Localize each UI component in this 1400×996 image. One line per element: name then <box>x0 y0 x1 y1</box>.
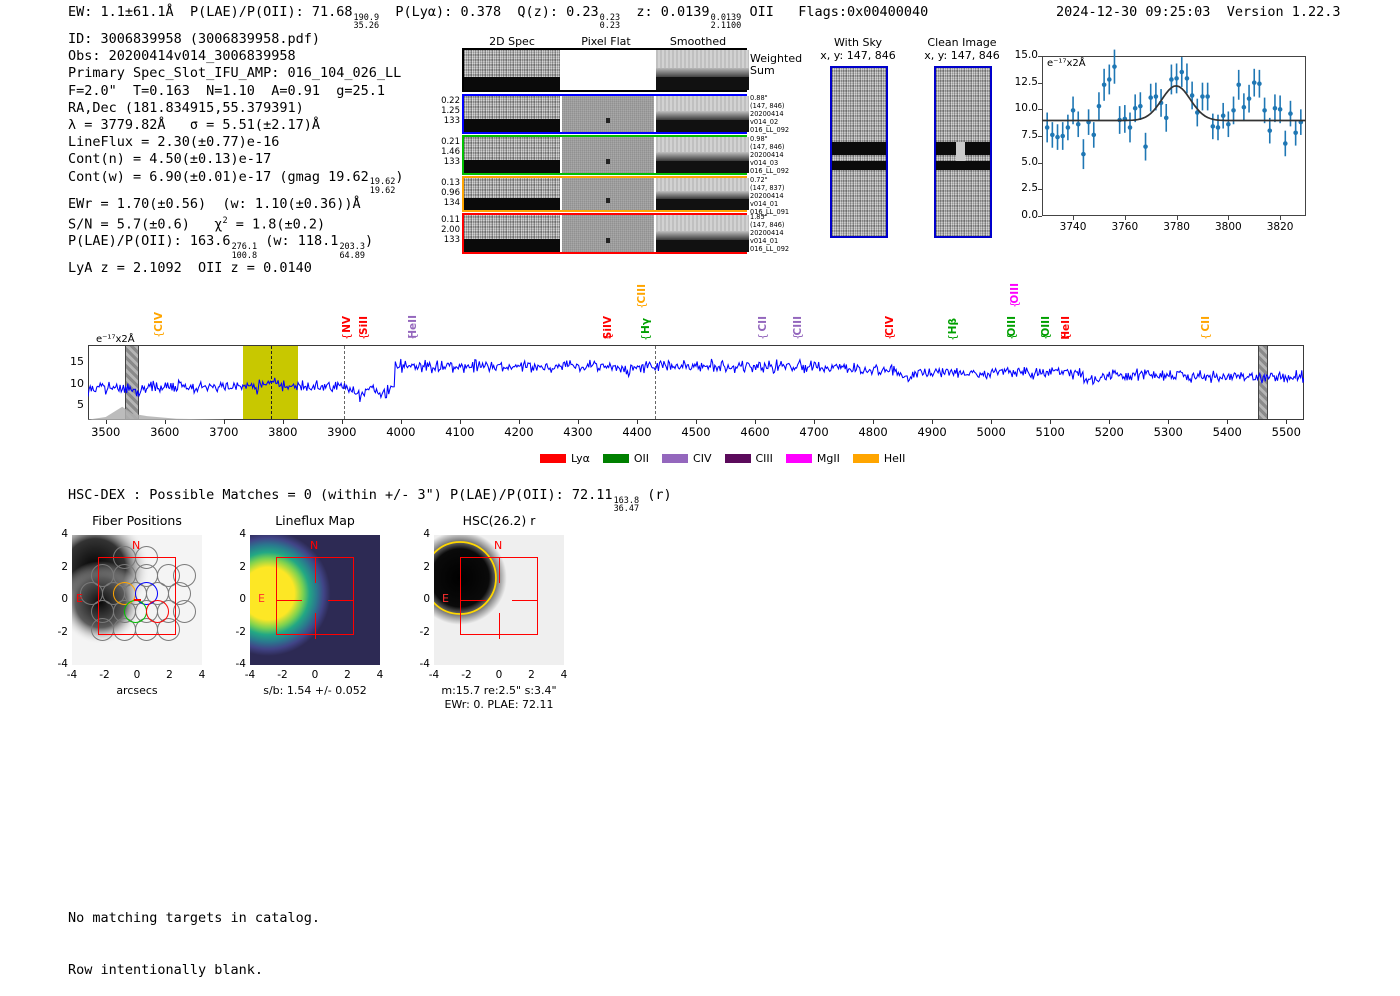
qz-label: Q(z): <box>517 4 558 20</box>
fiber-meta-2: 20200414 <box>750 110 804 118</box>
clean-image <box>934 66 992 238</box>
fiber-meta-3: v014_02 <box>750 118 804 126</box>
lineflux-map-title: Lineflux Map <box>228 513 402 528</box>
plya-value: 0.378 <box>460 4 501 20</box>
axis-xtick: 0 <box>312 669 319 681</box>
z-species: OII <box>749 4 773 20</box>
line-fit-ytick: 0.0 <box>1006 209 1038 221</box>
compass-e-lineflux: E <box>258 592 265 605</box>
spectrum-line-brace: { <box>340 333 353 340</box>
weighted-sum-label-line2: Sum <box>750 64 810 77</box>
fiber-meta-2: 20200414 <box>750 192 804 200</box>
spectrum-xtick: 3600 <box>150 425 179 439</box>
plae-range: 190.935.26 <box>354 14 380 31</box>
legend-swatch <box>725 454 751 463</box>
spectrum-xtick: 4700 <box>799 425 828 439</box>
axis-xtick: 0 <box>134 669 141 681</box>
fiber-left-stat-2: 134 <box>436 198 460 208</box>
fiber-pixelflat <box>562 96 654 132</box>
axis-xtick: -2 <box>461 669 471 681</box>
spectrum-xtick: 4100 <box>445 425 474 439</box>
fiber-right-meta: 1.85"(147, 846)20200414v014_01016_LL_092 <box>750 213 804 253</box>
legend-swatch <box>662 454 688 463</box>
axis-xtick: 4 <box>199 669 206 681</box>
axis-ytick: -2 <box>52 626 68 638</box>
fiber-meta-3: v014_01 <box>750 200 804 208</box>
cutout-col-title-pixelflat: Pixel Flat <box>556 35 656 48</box>
detection-info-block: ID: 3006839958 (3006839958.pdf) Obs: 202… <box>68 31 403 277</box>
spectrum-line-brace: { <box>1199 333 1212 340</box>
fiber-2dspec <box>464 137 560 173</box>
hscdex-prefix: HSC-DEX : Possible Matches = 0 (within +… <box>68 487 613 503</box>
fiber-meta-0: 0.72" <box>750 176 804 184</box>
line-fit-ytick: 10.0 <box>1006 102 1038 114</box>
axis-ytick: -2 <box>230 626 246 638</box>
fiber-smoothed <box>656 178 749 210</box>
spectrum-xtick: 4900 <box>917 425 946 439</box>
fiber-meta-2: 20200414 <box>750 229 804 237</box>
cutout-col-title-smoothed: Smoothed <box>648 35 748 48</box>
plae-value: 71.68 <box>312 4 353 20</box>
fiber-right-meta: 0.72"(147, 837)20200414v014_01016_LL_091 <box>750 176 804 216</box>
legend-item: CIV <box>662 452 711 465</box>
info-ewr: EWr = 1.70(±0.56) (w: 1.10(±0.36))Å <box>68 196 403 213</box>
hscdex-plae-range: 163.836.47 <box>614 497 640 514</box>
spectrum-line-brace: { <box>791 333 804 340</box>
axis-xtick: 2 <box>528 669 535 681</box>
spectrum-xtick: 3900 <box>327 425 356 439</box>
with-sky-title: With Sky <box>808 36 908 49</box>
header-summary-bar: EW: 1.1±61.1Å P(LAE)/P(OII): 71.68190.93… <box>68 4 928 31</box>
fiber-meta-1: (147, 837) <box>750 184 804 192</box>
qz-range: 0.230.23 <box>600 14 620 31</box>
fiber-right-meta: 0.88"(147, 846)20200414v014_02016_LL_092 <box>750 94 804 134</box>
info-id: ID: 3006839958 (3006839958.pdf) <box>68 31 403 48</box>
fiber-meta-3: v014_01 <box>750 237 804 245</box>
axis-ytick: -4 <box>230 658 246 670</box>
fiber-meta-4: 016_LL_092 <box>750 126 804 134</box>
spectrum-xtick: 3700 <box>209 425 238 439</box>
spectrum-xtick: 4300 <box>563 425 592 439</box>
ew-value: 1.1±61.1Å <box>101 4 174 20</box>
fiber-left-stat-0: 0.21 <box>436 137 460 147</box>
fiber-meta-1: (147, 846) <box>750 102 804 110</box>
fiber-positions-title: Fiber Positions <box>50 513 224 528</box>
weighted-sum-cutout-row <box>462 48 747 92</box>
spectrum-xtick: 5000 <box>977 425 1006 439</box>
spectrum-ytick: 5 <box>62 398 84 411</box>
fiber-2dspec <box>464 178 560 210</box>
fiber-cutout-row <box>462 135 747 175</box>
axis-ytick: 2 <box>52 561 68 573</box>
fiber-left-stat-0: 0.13 <box>436 178 460 188</box>
line-fit-xtick: 3780 <box>1163 221 1190 233</box>
spectrum-legend: Lyα OII CIV CIII MgII HeII <box>540 452 905 465</box>
line-fit-series <box>1042 56 1306 216</box>
axis-xtick: 4 <box>377 669 384 681</box>
axis-ytick: 0 <box>414 593 430 605</box>
legend-swatch <box>853 454 879 463</box>
hsc-image-sub1: m:15.7 re:2.5" s:3.4" <box>404 684 594 697</box>
fiber-2dspec <box>464 96 560 132</box>
fiber-right-meta: 0.98"(147, 846)20200414v014_03016_LL_092 <box>750 135 804 175</box>
fiber-left-stats: 0.211.46133 <box>436 137 460 167</box>
cutout-col-title-2dspec: 2D Spec <box>462 35 562 48</box>
ew-label: EW: <box>68 4 92 20</box>
axis-ytick: -4 <box>414 658 430 670</box>
plae-w-range: 203.364.89 <box>339 243 365 260</box>
compass-e-hsc: E <box>442 592 449 605</box>
spectrum-line-brace: { <box>357 333 370 340</box>
fiber-pixelflat <box>562 178 654 210</box>
spectrum-ytick: 10 <box>62 377 84 390</box>
fiber-cutout-row <box>462 213 747 254</box>
fiber-meta-3: v014_03 <box>750 159 804 167</box>
plae-label: P(LAE)/P(OII): <box>190 4 304 20</box>
compass-n-lineflux: N <box>310 539 318 552</box>
spectrum-line-label: Hβ <box>947 318 959 334</box>
fiber-left-stat-1: 0.96 <box>436 188 460 198</box>
legend-item: OII <box>603 452 649 465</box>
clean-image-coords: x, y: 147, 846 <box>912 49 1012 62</box>
spectrum-line-label: NV <box>341 316 353 333</box>
axis-xtick: -2 <box>277 669 287 681</box>
info-primary-spec: Primary Spec_Slot_IFU_AMP: 016_104_026_L… <box>68 65 403 82</box>
fiber-pixelflat <box>562 137 654 173</box>
line-fit-ytick: 2.5 <box>1006 182 1038 194</box>
spectrum-xtick: 3800 <box>268 425 297 439</box>
line-fit-ytick: 5.0 <box>1006 156 1038 168</box>
info-cont-w: Cont(w) = 6.90(±0.01)e-17 (gmag 19.6219.… <box>68 169 403 196</box>
weighted-sum-2dspec <box>464 50 560 90</box>
axis-ytick: 4 <box>52 528 68 540</box>
header-timestamp-version: 2024-12-30 09:25:03 Version 1.22.3 <box>1056 4 1341 20</box>
clean-image-title: Clean Image <box>912 36 1012 49</box>
legend-item: MgII <box>786 452 840 465</box>
axis-ytick: 2 <box>230 561 246 573</box>
weighted-sum-smoothed <box>656 50 749 90</box>
info-lambda-sigma: λ = 3779.82Å σ = 5.51(±2.17)Å <box>68 117 403 134</box>
line-fit-xtick: 3740 <box>1060 221 1087 233</box>
fiber-smoothed <box>656 215 749 252</box>
spectrum-line-brace: { <box>601 333 614 340</box>
compass-n-fiber: N <box>132 539 140 552</box>
axis-ytick: 4 <box>230 528 246 540</box>
line-fit-ytick: 15.0 <box>1006 49 1038 61</box>
legend-label: CIII <box>756 452 773 465</box>
legend-swatch <box>786 454 812 463</box>
fiber-left-stat-1: 1.46 <box>436 147 460 157</box>
info-params: F=2.0" T=0.163 N=1.10 A=0.91 g=25.1 <box>68 83 403 100</box>
flags-value: Flags:0x00400040 <box>798 4 928 20</box>
qz-value: 0.23 <box>566 4 599 20</box>
legend-label: HeII <box>884 452 906 465</box>
line-fit-xtick: 3800 <box>1215 221 1242 233</box>
fiber-2dspec <box>464 215 560 252</box>
spectrum-line-label: CIII <box>636 284 648 303</box>
info-cont-n: Cont(n) = 4.50(±0.13)e-17 <box>68 151 403 168</box>
axis-xtick: -4 <box>67 669 77 681</box>
legend-item: HeII <box>853 452 906 465</box>
axis-ytick: -4 <box>52 658 68 670</box>
axis-ytick: 0 <box>52 593 68 605</box>
legend-item: CIII <box>725 452 773 465</box>
info-lineflux: LineFlux = 2.30(±0.77)e-16 <box>68 134 403 151</box>
info-obs: Obs: 20200414v014_3006839958 <box>68 48 403 65</box>
spectrum-units: e⁻¹⁷x2Å <box>96 334 135 345</box>
footer-note: No matching targets in catalog. Row inte… <box>68 876 320 996</box>
lineflux-map-sub: s/b: 1.54 +/- 0.052 <box>220 684 410 697</box>
version-label: Version 1.22.3 <box>1227 4 1341 20</box>
spectrum-line-brace: { <box>152 331 165 338</box>
fiber-left-stats: 0.112.00133 <box>436 215 460 245</box>
info-plae-ratio: P(LAE)/P(OII): 163.6276.1100.8 (w: 118.1… <box>68 233 403 260</box>
fiber-meta-1: (147, 846) <box>750 143 804 151</box>
fiber-left-stat-2: 133 <box>436 116 460 126</box>
spectrum-line-brace: { <box>1039 333 1052 340</box>
spectrum-xtick: 4600 <box>740 425 769 439</box>
spectrum-line-brace: { <box>635 302 648 309</box>
axis-xtick: -2 <box>99 669 109 681</box>
fiber-positions-xlabel: arcsecs <box>50 684 224 697</box>
info-redshifts: LyA z = 2.1092 OII z = 0.0140 <box>68 260 403 277</box>
fiber-left-stat-0: 0.11 <box>436 215 460 225</box>
spectrum-xtick: 5100 <box>1036 425 1065 439</box>
spectrum-xtick: 5400 <box>1213 425 1242 439</box>
spectrum-line-label: CIV <box>153 312 165 332</box>
fiber-smoothed <box>656 96 749 132</box>
z-label: z: <box>636 4 652 20</box>
spectrum-line-brace: { <box>1005 333 1018 340</box>
compass-n-hsc: N <box>494 539 502 552</box>
legend-label: CIV <box>693 452 711 465</box>
fiber-meta-4: 016_LL_092 <box>750 245 804 253</box>
spectrum-line-brace: { <box>1059 333 1072 340</box>
spectrum-line-brace: { <box>1008 301 1021 308</box>
spectrum-line-brace: { <box>756 333 769 340</box>
spectrum-xtick: 4400 <box>622 425 651 439</box>
axis-ytick: 0 <box>230 593 246 605</box>
legend-label: Lyα <box>571 452 590 465</box>
line-fit-xtick: 3760 <box>1111 221 1138 233</box>
fiber-meta-0: 0.88" <box>750 94 804 102</box>
info-sn-chi2: S/N = 5.7(±0.6) χ2 = 1.8(±0.2) <box>68 213 403 234</box>
axis-xtick: -4 <box>245 669 255 681</box>
spectrum-xtick: 4200 <box>504 425 533 439</box>
fiber-meta-0: 0.98" <box>750 135 804 143</box>
spectrum-line-label: Hγ <box>640 318 652 334</box>
spectrum-line-brace: { <box>639 334 652 341</box>
spectrum-ytick: 15 <box>62 355 84 368</box>
fiber-left-stats: 0.130.96134 <box>436 178 460 208</box>
line-fit-ytick: 12.5 <box>1006 76 1038 88</box>
legend-label: OII <box>634 452 649 465</box>
axis-xtick: 4 <box>561 669 568 681</box>
with-sky-coords: x, y: 147, 846 <box>808 49 908 62</box>
gmag-range: 19.6219.62 <box>370 178 396 195</box>
spectrum-xtick: 3500 <box>91 425 120 439</box>
line-fit-xtick: 3820 <box>1267 221 1294 233</box>
axis-xtick: -4 <box>429 669 439 681</box>
z-value: 0.0139 <box>661 4 710 20</box>
spectrum-xtick: 5500 <box>1272 425 1301 439</box>
fiber-meta-4: 016_LL_092 <box>750 167 804 175</box>
axis-ytick: 4 <box>414 528 430 540</box>
z-range: 0.01392.1100 <box>711 14 742 31</box>
spectrum-xtick: 5200 <box>1095 425 1124 439</box>
hsc-image-sub2: EWr: 0. PLAE: 72.11 <box>404 698 594 711</box>
legend-swatch <box>540 454 566 463</box>
spectrum-line-brace: { <box>946 334 959 341</box>
axis-ytick: 2 <box>414 561 430 573</box>
weighted-sum-pixelflat <box>562 50 654 90</box>
fiber-cutout-row <box>462 94 747 134</box>
fiber-meta-2: 20200414 <box>750 151 804 159</box>
spectrum-xtick: 4500 <box>681 425 710 439</box>
axis-ytick: -2 <box>414 626 430 638</box>
line-fit-ytick: 7.5 <box>1006 129 1038 141</box>
axis-xtick: 2 <box>166 669 173 681</box>
fiber-left-stat-2: 133 <box>436 235 460 245</box>
hscdex-suffix: (r) <box>647 487 671 503</box>
spectrum-line-brace: { <box>883 333 896 340</box>
spectrum-xtick: 4800 <box>858 425 887 439</box>
spectrum-line-label: CII <box>1200 316 1212 332</box>
fiber-smoothed <box>656 137 749 173</box>
fiber-cutout-row <box>462 176 747 212</box>
fiber-meta-0: 1.85" <box>750 213 804 221</box>
fiber-left-stat-0: 0.22 <box>436 96 460 106</box>
compass-e-fiber: E <box>76 592 83 605</box>
info-radec: RA,Dec (181.834915,55.379391) <box>68 100 403 117</box>
fiber-meta-1: (147, 846) <box>750 221 804 229</box>
spectrum-xtick: 5300 <box>1154 425 1183 439</box>
plae-n-range: 276.1100.8 <box>232 243 258 260</box>
spectrum-error-band <box>88 345 1304 420</box>
fiber-positions-redbox <box>98 557 176 635</box>
spectrum-line-brace: { <box>406 333 419 340</box>
footer-line-1: No matching targets in catalog. <box>68 910 320 927</box>
fiber-left-stat-2: 133 <box>436 157 460 167</box>
legend-label: MgII <box>817 452 840 465</box>
plya-label: P(Lyα): <box>395 4 452 20</box>
legend-item: Lyα <box>540 452 590 465</box>
legend-swatch <box>603 454 629 463</box>
fiber-pixelflat <box>562 215 654 252</box>
with-sky-image <box>830 66 888 238</box>
hscdex-match-line: HSC-DEX : Possible Matches = 0 (within +… <box>68 487 672 514</box>
spectrum-xtick: 4000 <box>386 425 415 439</box>
timestamp: 2024-12-30 09:25:03 <box>1056 4 1210 20</box>
fiber-left-stat-1: 2.00 <box>436 225 460 235</box>
axis-xtick: 0 <box>496 669 503 681</box>
hsc-image-title: HSC(26.2) r <box>412 513 586 528</box>
footer-line-2: Row intentionally blank. <box>68 962 320 979</box>
spectrum-line-label: CII <box>757 316 769 332</box>
fiber-left-stat-1: 1.25 <box>436 106 460 116</box>
axis-xtick: 2 <box>344 669 351 681</box>
fiber-left-stats: 0.221.25133 <box>436 96 460 126</box>
